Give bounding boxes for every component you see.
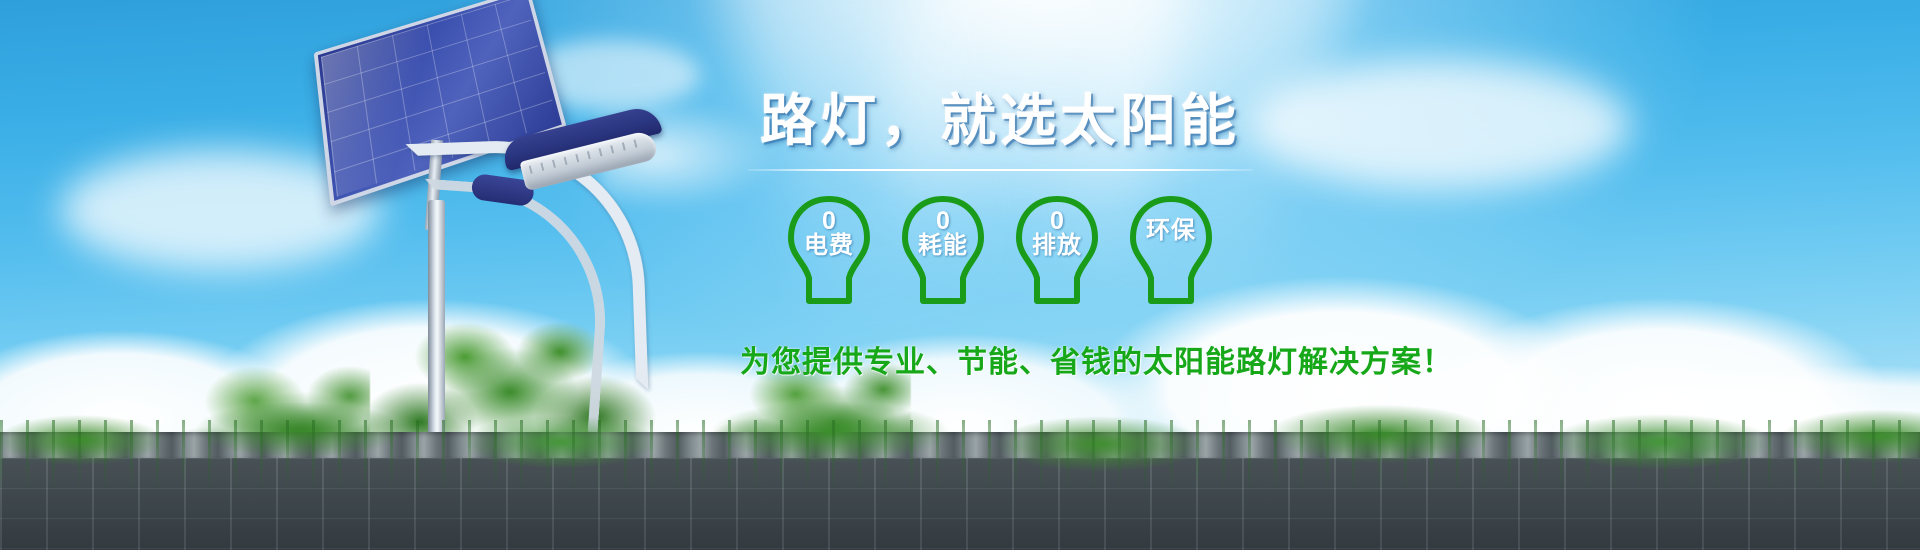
badge-text: 0 耗能 [897, 209, 989, 259]
badge-label: 耗能 [918, 234, 968, 258]
feature-badge-energy: 0 耗能 [897, 193, 989, 311]
solar-lamp-hero-banner: 路灯，就选太阳能 0 电费 0 耗能 [0, 0, 1920, 550]
feature-badge-electricity: 0 电费 [783, 193, 875, 311]
feature-badge-emission: 0 排放 [1011, 193, 1103, 311]
badge-zero: 0 [822, 209, 836, 235]
badge-text: 0 排放 [1011, 209, 1103, 259]
badge-label: 环保 [1146, 219, 1196, 243]
ivy-foliage [0, 370, 1920, 490]
lightbulb-icon [1125, 193, 1217, 311]
ivy-vines [0, 420, 1920, 490]
feature-badge-eco: 环保 [1125, 193, 1217, 311]
banner-copy: 路灯，就选太阳能 0 电费 0 耗能 [740, 90, 1260, 381]
badge-text: 环保 [1125, 219, 1217, 243]
banner-tagline: 为您提供专业、节能、省钱的太阳能路灯解决方案！ [740, 337, 1260, 381]
badge-label: 电费 [804, 234, 854, 258]
badge-label: 排放 [1032, 234, 1082, 258]
feature-badge-list: 0 电费 0 耗能 0 排放 [740, 193, 1260, 311]
badge-zero: 0 [1050, 209, 1064, 235]
badge-text: 0 电费 [783, 209, 875, 259]
cloud-soft-right [1250, 60, 1630, 190]
headline-divider [748, 169, 1253, 171]
badge-zero: 0 [936, 209, 950, 235]
banner-headline: 路灯，就选太阳能 [740, 90, 1260, 153]
